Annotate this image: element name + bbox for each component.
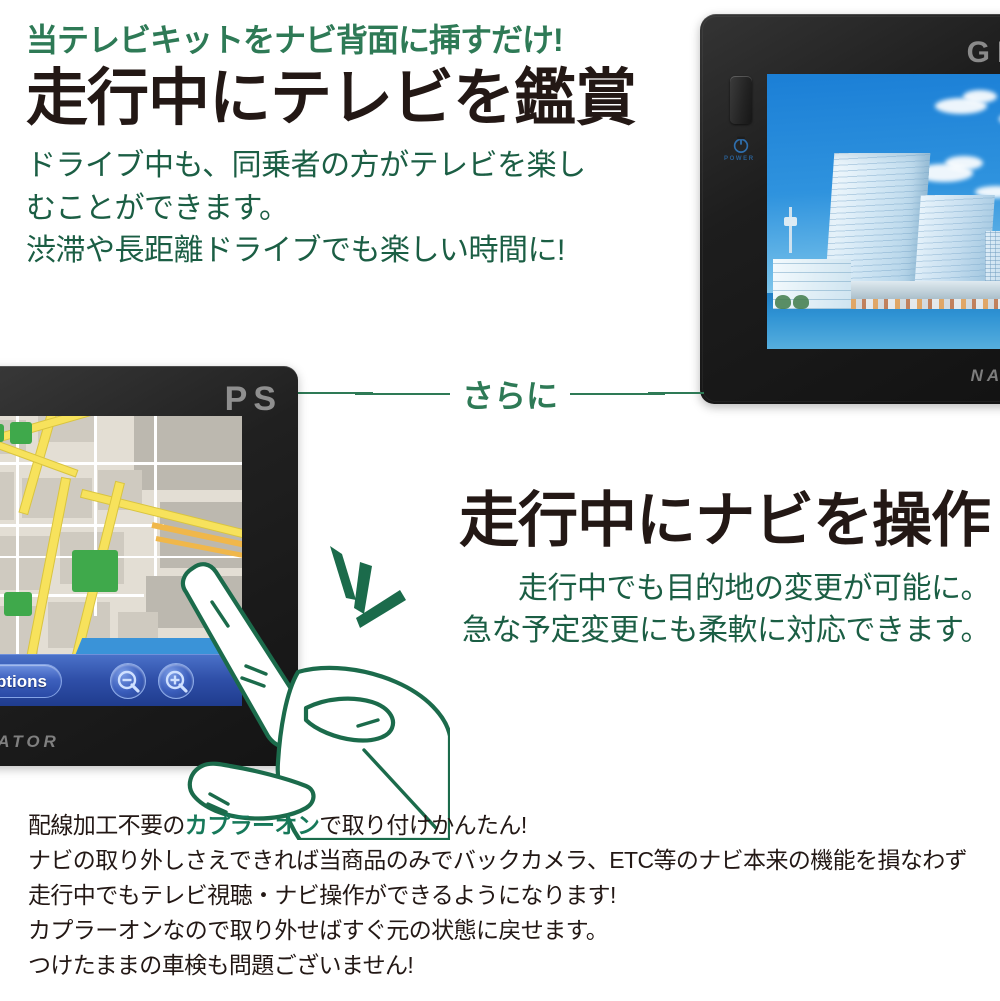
screen-lowrise: [851, 281, 1000, 309]
nav-brand-top: PS: [225, 380, 282, 419]
lede-line: 渋滞や長距離ドライブでも楽しい時間に!: [26, 230, 646, 273]
footer-text-block: 配線加工不要のカプラーオンで取り付けかんたん! ナビの取り外しさえできれば当商品…: [28, 808, 978, 983]
top-text-block: 当テレビキットをナビ背面に挿すだけ! 走行中にテレビを鑑賞 ドライブ中も、同乗者…: [26, 22, 646, 273]
main-headline: 走行中にテレビを鑑賞: [26, 64, 646, 133]
nav-brand-bottom: GATOR: [0, 732, 60, 752]
divider-rule-left: [355, 393, 450, 395]
monitor-screen: [767, 74, 1000, 349]
footer-line1-emphasis: カプラーオン: [185, 812, 319, 838]
section-divider: さらに: [355, 370, 665, 418]
right-text-block: 走行中にナビを操作 走行中でも目的地の変更が可能に。 急な予定変更にも柔軟に対応…: [410, 488, 990, 652]
screen-mast: [789, 207, 792, 253]
sub-line: 急な予定変更にも柔軟に対応できます。: [410, 610, 990, 652]
cloud: [963, 90, 997, 103]
tap-line: [330, 546, 356, 600]
advertisement-stage: 当テレビキットをナビ背面に挿すだけ! 走行中にテレビを鑑賞 ドライブ中も、同乗者…: [0, 0, 1000, 1001]
divider-rule-right: [570, 393, 665, 395]
zoom-out-button[interactable]: [110, 663, 146, 699]
tv-monitor-device: GP POWER NAVI: [700, 14, 1000, 404]
screen-tree: [793, 295, 809, 309]
footer-line-2: ナビの取り外しさえできれば当商品のみでバックカメラ、ETC等のナビ本来の機能を損…: [28, 843, 978, 878]
footer-line-5: つけたままの車検も問題ございません!: [28, 948, 978, 983]
footer-line-4: カプラーオンなので取り外せばすぐ元の状態に戻せます。: [28, 913, 978, 948]
monitor-power-button[interactable]: [730, 76, 752, 124]
monitor-power-label: POWER: [724, 156, 755, 162]
monitor-brand-bottom: NAVI: [971, 366, 1000, 386]
lede-paragraph: ドライブ中も、同乗者の方がテレビを楽し むことができます。 渋滞や長距離ドライブ…: [26, 145, 646, 273]
footer-line1-post: で取り付けかんたん!: [319, 812, 526, 838]
footer-line-1: 配線加工不要のカプラーオンで取り付けかんたん!: [28, 808, 978, 843]
tap-line: [354, 562, 372, 614]
footer-line1-pre: 配線加工不要の: [28, 812, 185, 838]
lede-line: ドライブ中も、同乗者の方がテレビを楽し: [26, 145, 646, 188]
divider-label: さらに: [462, 371, 558, 417]
footer-line-3: 走行中でもテレビ視聴・ナビ操作ができるようになります!: [28, 878, 978, 913]
sub-line: 走行中でも目的地の変更が可能に。: [410, 568, 990, 610]
screen-tree: [775, 295, 791, 309]
power-icon: [732, 136, 750, 154]
secondary-subtext: 走行中でも目的地の変更が可能に。 急な予定変更にも柔軟に対応できます。: [410, 568, 990, 652]
options-button-label: Options: [0, 672, 47, 692]
magnifier-minus-icon: [111, 664, 147, 700]
tap-impact-marks: [312, 538, 422, 643]
options-button[interactable]: Options: [0, 664, 62, 698]
monitor-brand-top: GP: [967, 36, 1000, 70]
secondary-headline: 走行中にナビを操作: [410, 488, 990, 554]
lede-line: むことができます。: [26, 188, 646, 231]
kicker-text: 当テレビキットをナビ背面に挿すだけ!: [26, 22, 646, 60]
cloud: [945, 156, 983, 170]
